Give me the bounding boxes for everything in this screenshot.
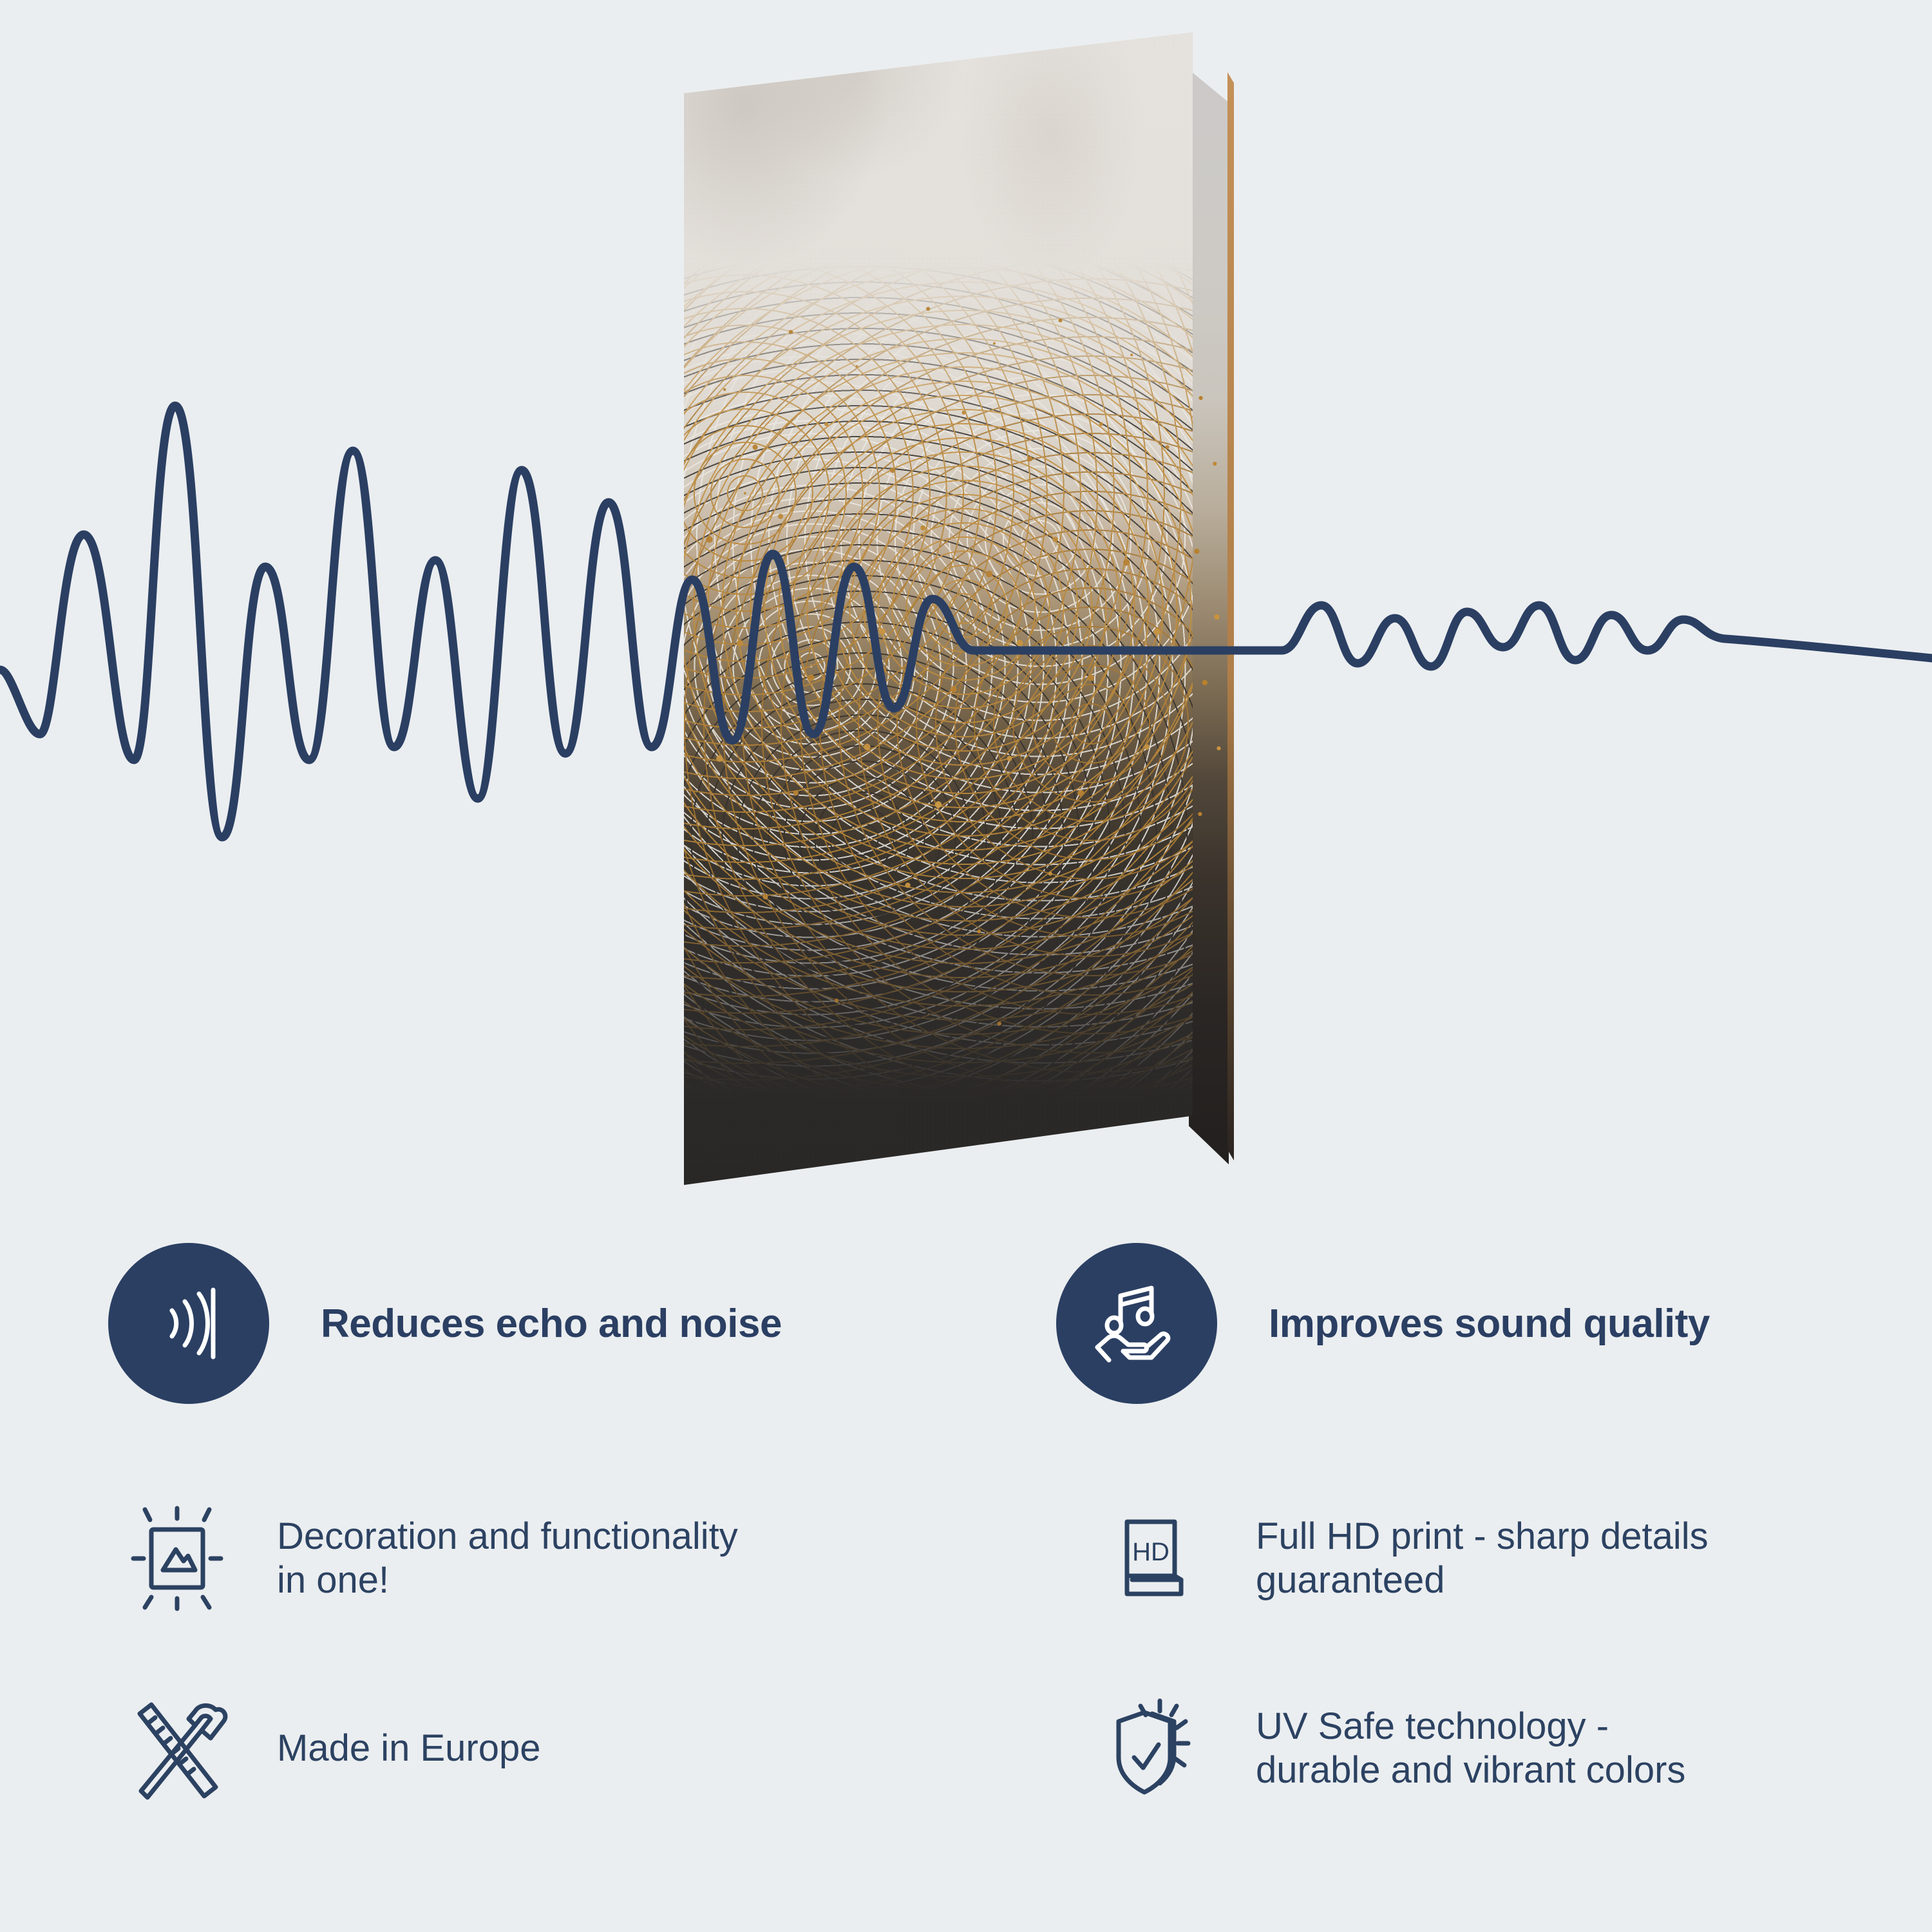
uv-shield-check-icon <box>1098 1690 1214 1806</box>
canvas-weave-texture <box>684 32 1193 1185</box>
feature-line: durable and vibrant colors <box>1256 1748 1685 1792</box>
feature-icon-wrap <box>1095 1687 1217 1810</box>
canvas-frame-strip <box>1227 72 1234 1160</box>
sound-waves-icon <box>144 1278 234 1368</box>
feature-text: Full HD print - sharp details guaranteed <box>1256 1515 1709 1603</box>
framed-picture-shine-icon <box>119 1501 235 1616</box>
hd-badge-text: HD <box>1132 1538 1170 1566</box>
badge-label: Improves sound quality <box>1269 1301 1710 1347</box>
badge-circle <box>108 1243 269 1404</box>
feature-icon-wrap <box>116 1497 238 1620</box>
feature-line: Decoration and functionality <box>277 1515 738 1558</box>
canvas-side-speckle <box>1189 70 1229 1164</box>
hd-print-icon: HD <box>1101 1504 1211 1613</box>
badge-circle <box>1056 1243 1217 1404</box>
feature-line: Made in Europe <box>277 1727 540 1770</box>
feature-text: Decoration and functionality in one! <box>277 1515 738 1603</box>
canvas-artwork <box>670 32 1256 1217</box>
product-infographic: Reduces echo and noise Improves sound qu… <box>0 0 1932 1932</box>
badge-label: Reduces echo and noise <box>321 1301 782 1347</box>
feature-made-in-europe[interactable]: Made in Europe <box>116 1687 540 1810</box>
feature-icon-wrap: HD <box>1095 1497 1217 1620</box>
feature-line: guaranteed <box>1256 1558 1709 1602</box>
badge-reduces-echo[interactable]: Reduces echo and noise <box>108 1243 782 1404</box>
badge-improves-sound[interactable]: Improves sound quality <box>1056 1243 1710 1404</box>
canvas-side-edge <box>1189 70 1229 1164</box>
feature-full-hd-print[interactable]: HD Full HD print - sharp details guarant… <box>1095 1497 1709 1620</box>
feature-text: Made in Europe <box>277 1727 540 1770</box>
feature-line: Full HD print - sharp details <box>1256 1515 1709 1558</box>
music-note-in-hand-icon <box>1090 1276 1184 1370</box>
feature-icon-wrap <box>116 1687 238 1810</box>
feature-uv-safe-technology[interactable]: UV Safe technology - durable and vibrant… <box>1095 1687 1685 1810</box>
feature-line: in one! <box>277 1558 738 1602</box>
feature-decoration-functionality[interactable]: Decoration and functionality in one! <box>116 1497 738 1620</box>
canvas-front-face <box>684 32 1193 1185</box>
feature-text: UV Safe technology - durable and vibrant… <box>1256 1705 1685 1793</box>
ruler-and-hammer-icon <box>119 1690 235 1806</box>
feature-line: UV Safe technology - <box>1256 1705 1685 1748</box>
